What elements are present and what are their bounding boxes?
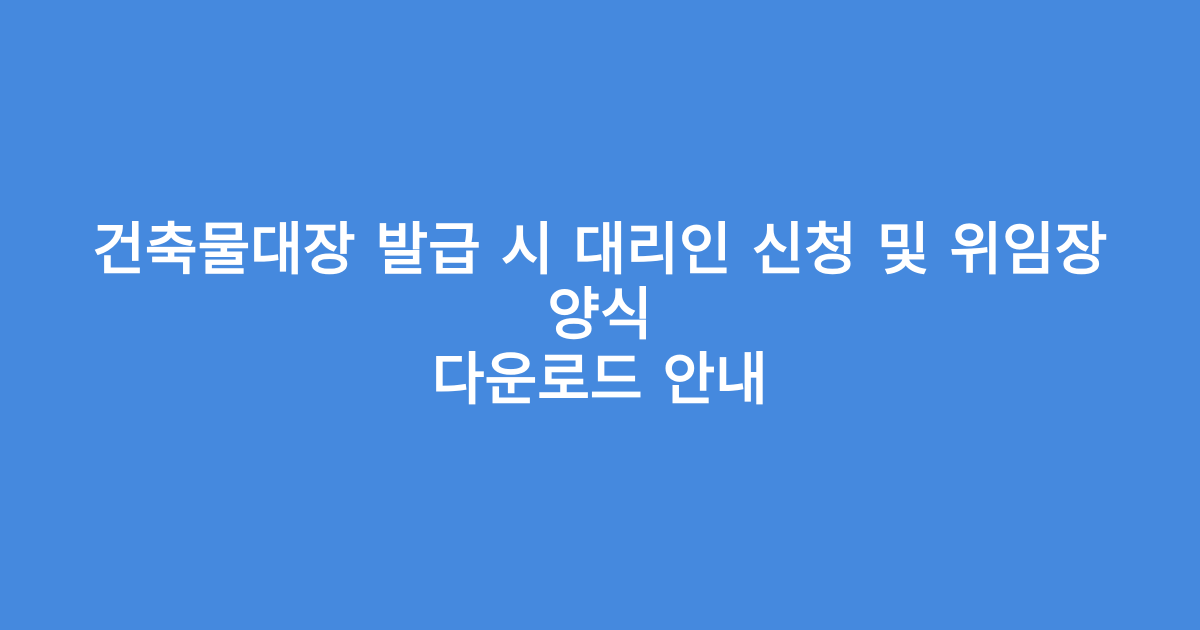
headline-container: 건축물대장 발급 시 대리인 신청 및 위임장 양식 다운로드 안내 [80,218,1120,413]
page-title: 건축물대장 발급 시 대리인 신청 및 위임장 양식 다운로드 안내 [80,218,1120,413]
og-card: 건축물대장 발급 시 대리인 신청 및 위임장 양식 다운로드 안내 [0,0,1200,630]
